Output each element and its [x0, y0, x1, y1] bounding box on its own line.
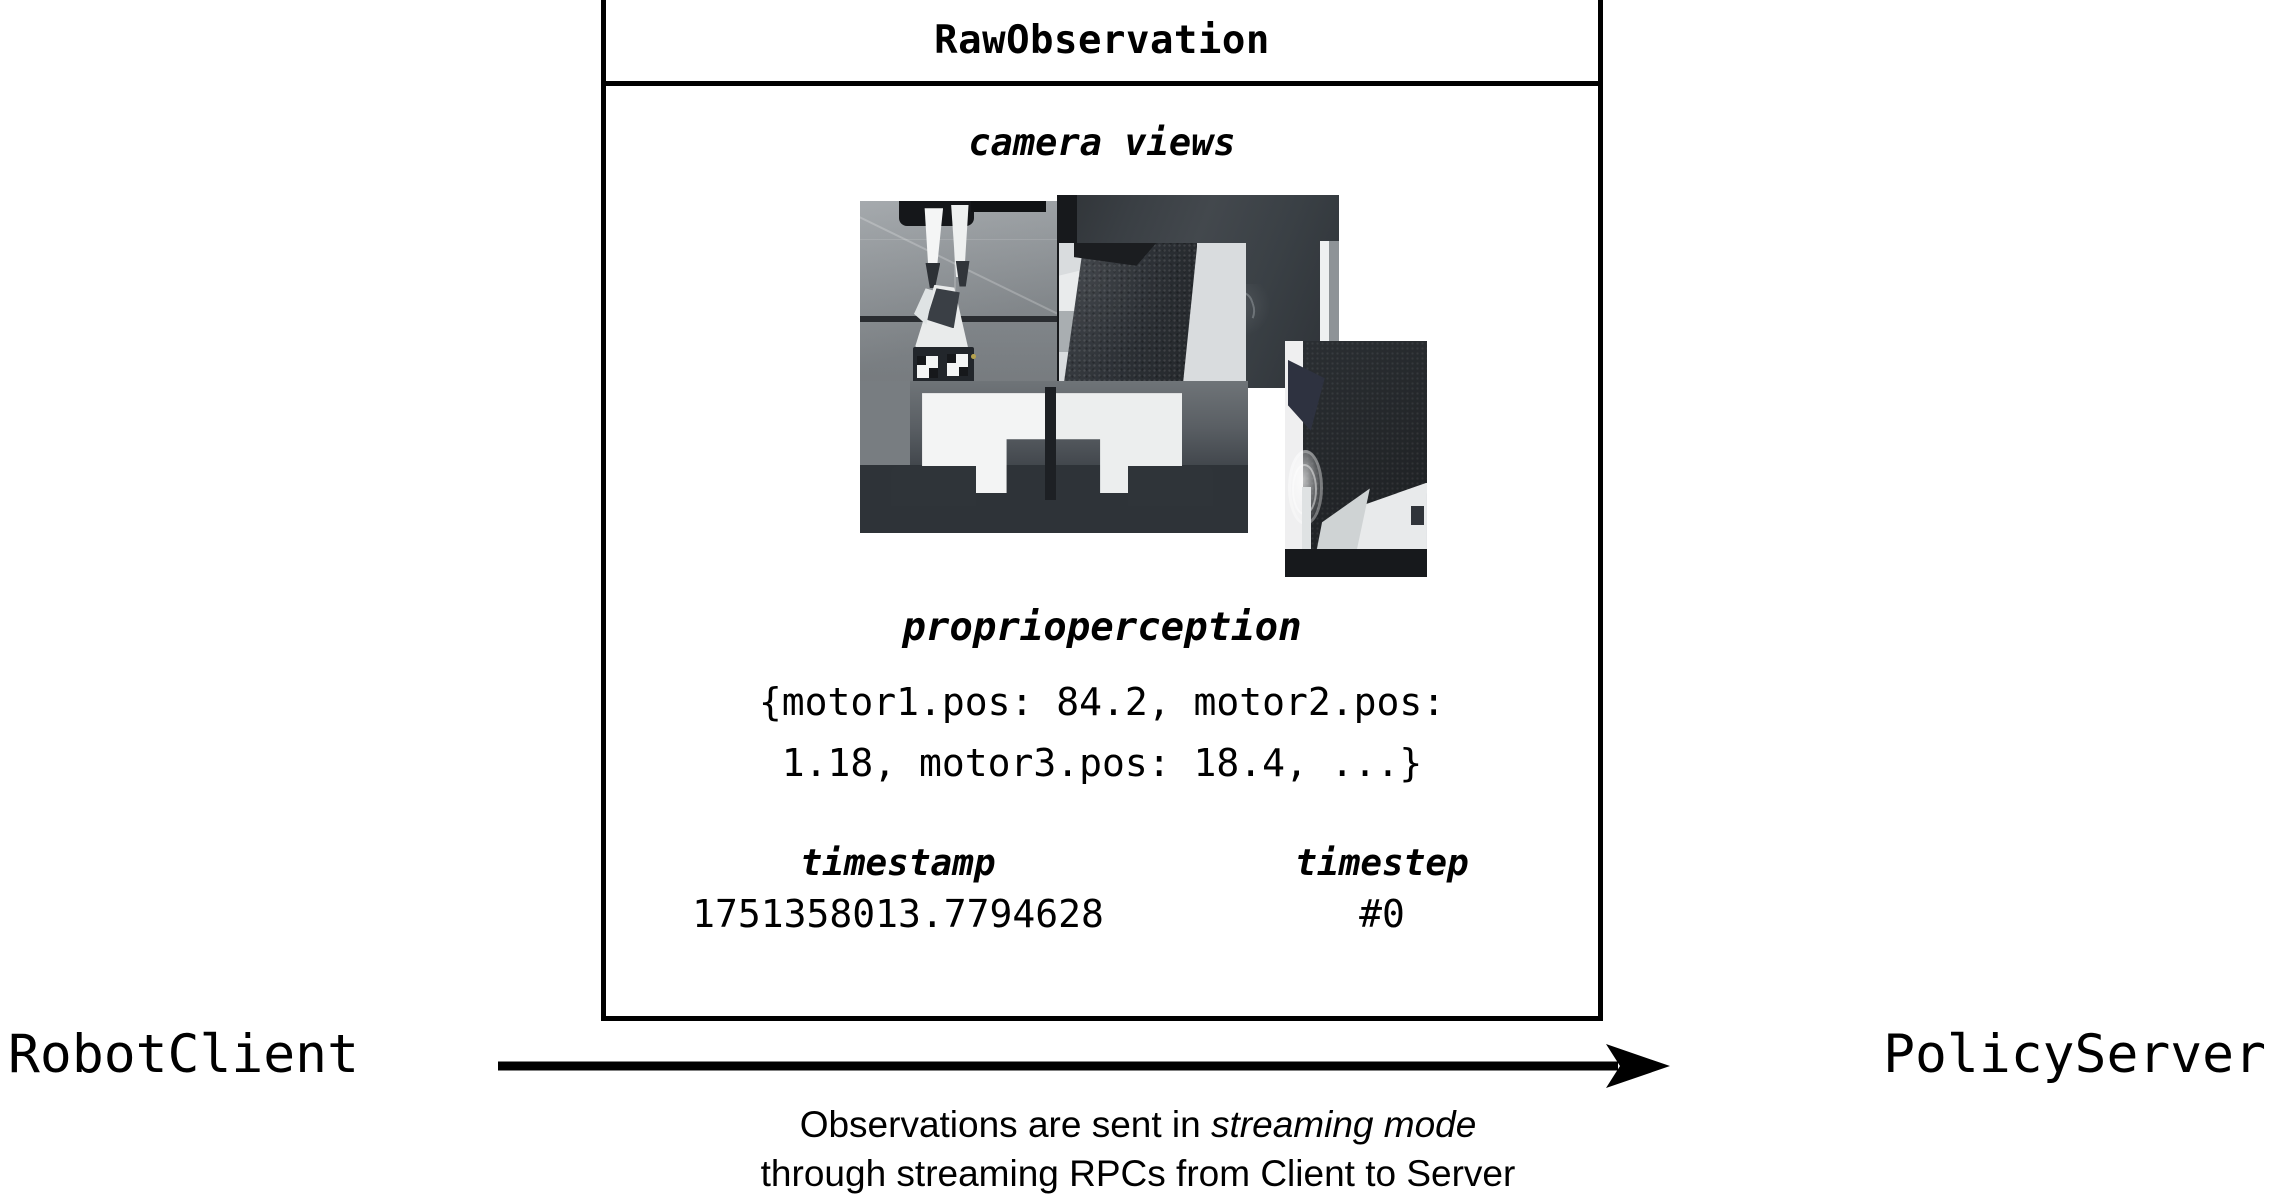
timestamp-value: 1751358013.7794628	[618, 892, 1178, 936]
caption-line-2: through streaming RPCs from Client to Se…	[0, 1149, 2276, 1198]
gripper-pad-left	[891, 466, 976, 506]
gripper-pad-right	[1128, 466, 1213, 506]
timestep-column: timestep #0	[1182, 843, 1582, 936]
caption-line-1: Observations are sent in streaming mode	[0, 1100, 2276, 1149]
camera-view-right-cup	[1285, 341, 1427, 577]
side-wall-grey	[860, 381, 910, 469]
page-title: RawObservation	[934, 18, 1270, 63]
camera-views-collage	[606, 195, 1598, 595]
robot-client-node: RobotClient	[8, 1024, 359, 1085]
caption-line-1-pre: Observations are sent in	[800, 1104, 1211, 1145]
timestep-value: #0	[1182, 892, 1582, 936]
fiducial-marker-2	[947, 354, 968, 376]
card-title-bar: RawObservation	[606, 0, 1598, 86]
raw-observation-card: RawObservation camera views	[601, 0, 1603, 1021]
timestep-label: timestep	[1182, 843, 1582, 884]
timestamp-label: timestamp	[618, 843, 1178, 884]
policy-server-node: PolicyServer	[1883, 1024, 2266, 1085]
proprioperception-label: proprioperception	[606, 605, 1598, 650]
arrow-right-icon	[498, 1041, 1670, 1091]
caption-emphasis: streaming mode	[1211, 1104, 1476, 1145]
timestamp-column: timestamp 1751358013.7794628	[618, 843, 1178, 936]
screw-dot	[971, 354, 976, 359]
table-shadow-bottom	[1285, 549, 1427, 577]
timestamp-timestep-row: timestamp 1751358013.7794628 timestep #0	[606, 843, 1598, 973]
gripper-jaw-gap	[1045, 387, 1055, 499]
proprioperception-line-2: 1.18, motor3.pos: 18.4, ...}	[606, 733, 1598, 794]
camera-views-label: camera views	[606, 121, 1598, 164]
proprioperception-values: {motor1.pos: 84.2, motor2.pos: 1.18, mot…	[606, 672, 1598, 794]
robot-mount-dark-2	[971, 201, 1046, 212]
proprioperception-line-1: {motor1.pos: 84.2, motor2.pos:	[606, 672, 1598, 733]
flow-caption: Observations are sent in streaming mode …	[0, 1100, 2276, 1198]
dark-notch	[1411, 506, 1424, 525]
fiducial-marker-1	[917, 356, 938, 378]
camera-view-wrist-jaws	[860, 381, 1248, 533]
